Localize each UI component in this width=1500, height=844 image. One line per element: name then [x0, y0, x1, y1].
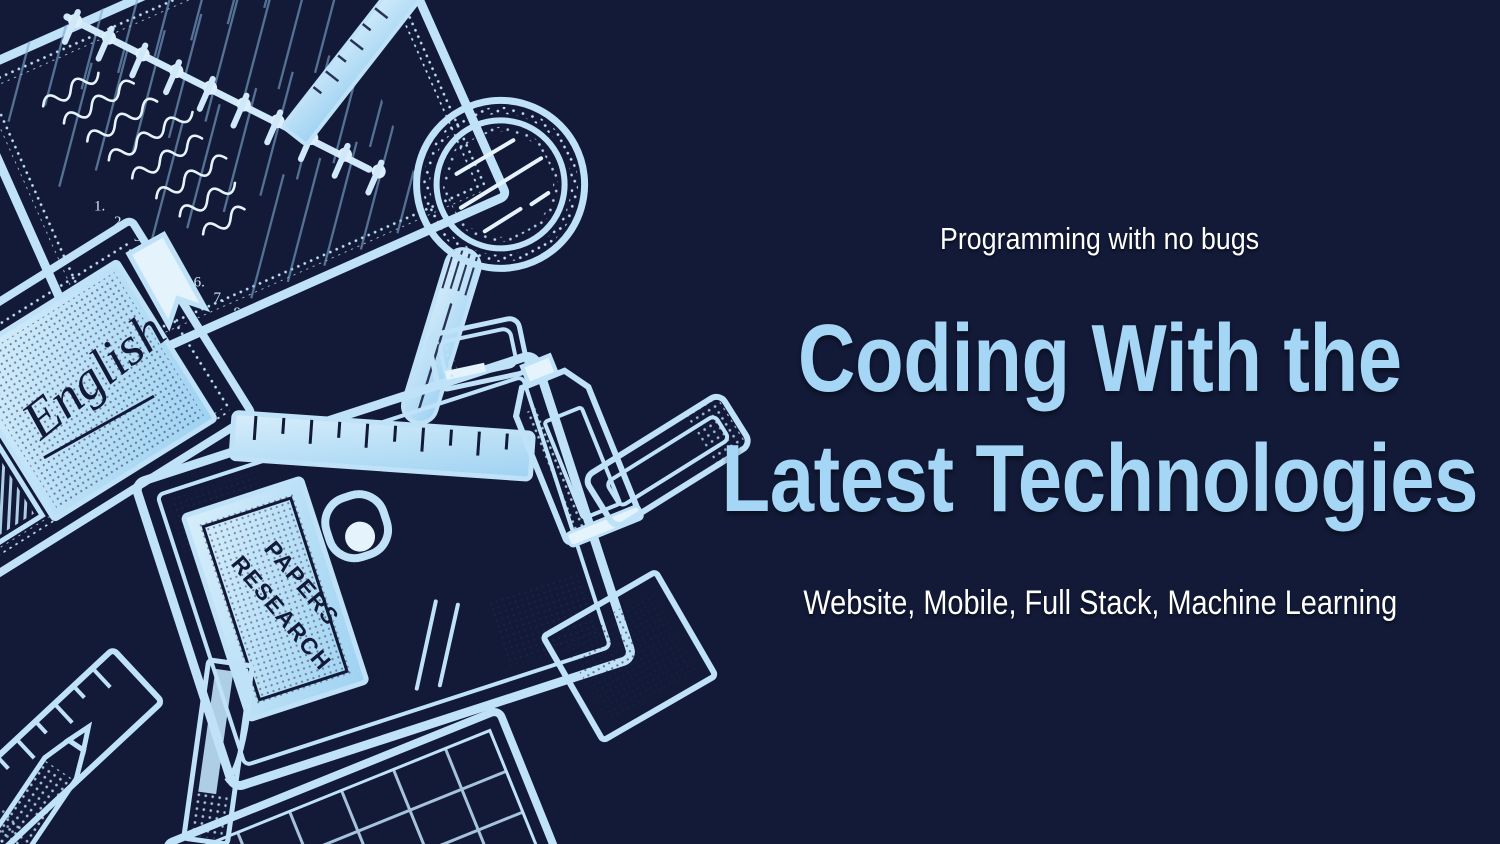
headline-line-1: Coding With the — [722, 299, 1479, 418]
eyebrow-text: Programming with no bugs — [940, 221, 1259, 257]
ruler-icon — [283, 0, 448, 145]
poster-canvas: 1. 2. 3. 4. 5. 6. 7. 8. — [0, 0, 1500, 844]
tagline-text: Website, Mobile, Full Stack, Machine Lea… — [803, 584, 1397, 623]
headline-line-2: Latest Technologies — [722, 419, 1479, 538]
clipboard-clip — [319, 487, 395, 565]
stationery-illustration: 1. 2. 3. 4. 5. 6. 7. 8. — [0, 0, 760, 844]
page-title: Coding With the Latest Technologies — [722, 299, 1479, 537]
hero-text-block: Programming with no bugs Coding With the… — [700, 0, 1500, 844]
svg-text:7.: 7. — [213, 290, 224, 306]
research-papers-folder-icon: RESEARCH PAPERS — [183, 478, 367, 720]
svg-text:1.: 1. — [94, 199, 105, 215]
